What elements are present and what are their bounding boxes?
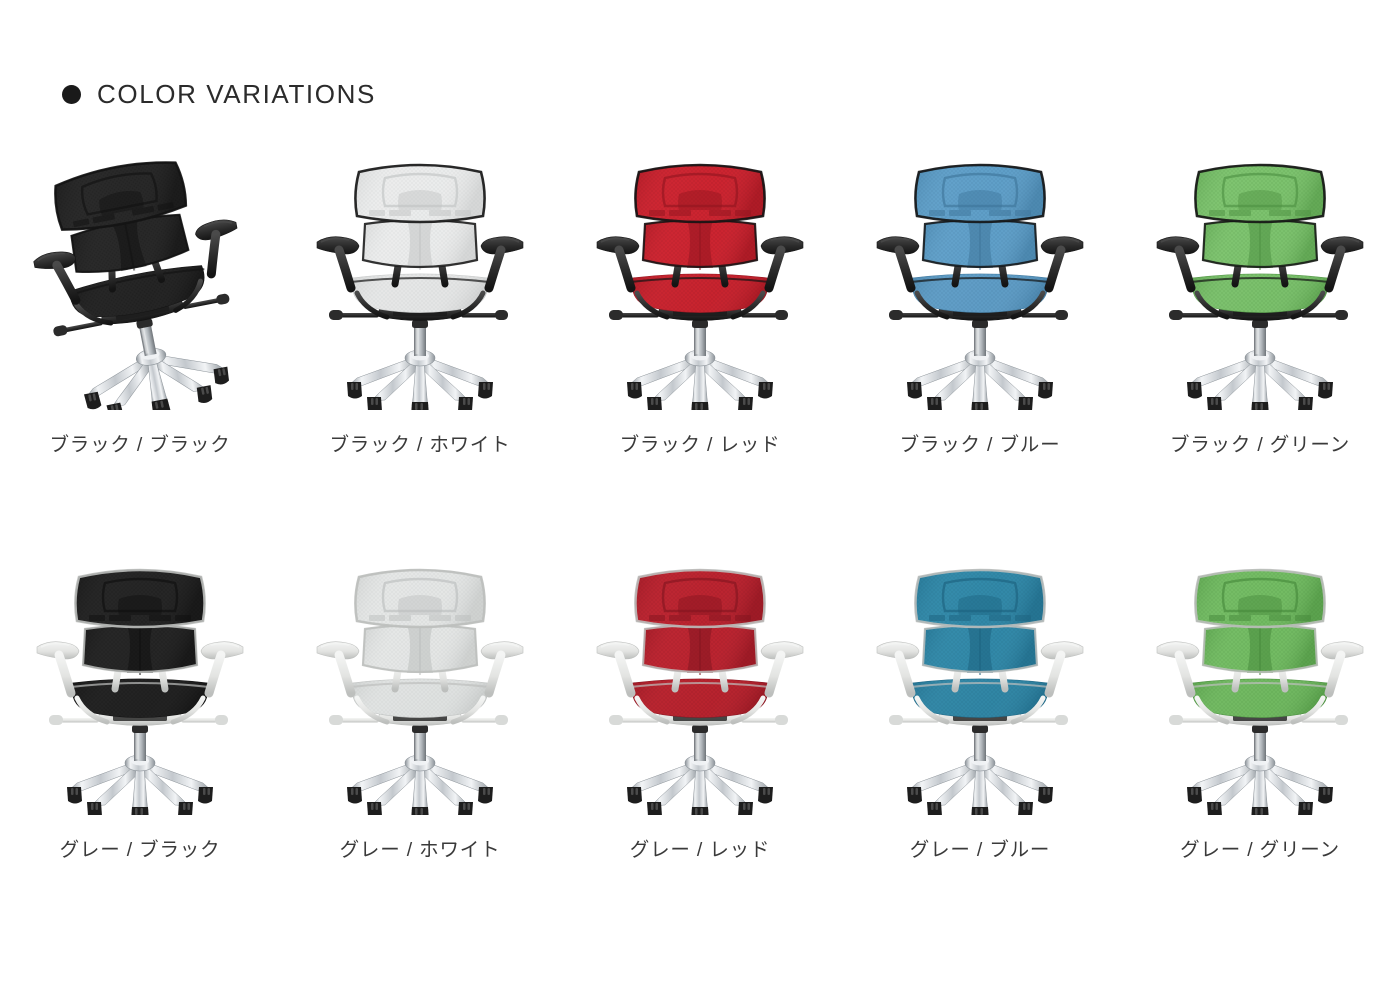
chair-seat <box>351 274 489 317</box>
chair-illustration <box>855 555 1105 815</box>
chair-image[interactable] <box>295 555 545 815</box>
chair-seat <box>1191 679 1329 722</box>
lumbar-back-rest <box>643 218 757 270</box>
chair-illustration <box>15 150 265 410</box>
upper-backrest <box>1195 570 1324 627</box>
variation-label: ブラック / レッド <box>620 428 781 457</box>
chair-seat <box>631 274 769 317</box>
chair-seat <box>911 679 1049 722</box>
chair-image[interactable] <box>1135 150 1385 410</box>
page-header: COLOR VARIATIONS <box>62 62 376 128</box>
upper-backrest <box>635 570 764 627</box>
chair-illustration <box>855 150 1105 410</box>
chair-image[interactable] <box>575 555 825 815</box>
lumbar-back-rest <box>1203 623 1317 675</box>
chair-image[interactable] <box>1135 555 1385 815</box>
chair-image[interactable] <box>575 150 825 410</box>
variation-label: グレー / ホワイト <box>340 833 501 862</box>
variation-label: ブラック / ブルー <box>900 428 1061 457</box>
lumbar-back-rest <box>363 623 477 675</box>
variation-item[interactable]: グレー / ホワイト <box>280 555 560 960</box>
chair-base <box>347 350 493 410</box>
lumbar-back-rest <box>643 623 757 675</box>
lumbar-back-rest <box>83 623 197 675</box>
upper-backrest <box>915 570 1044 627</box>
chair-image[interactable] <box>855 555 1105 815</box>
variation-item[interactable]: グレー / ブラック <box>0 555 280 960</box>
variation-row: ブラック / ブラック <box>0 150 1400 555</box>
chair-base <box>67 755 213 815</box>
chair-seat <box>71 679 209 722</box>
variation-row: グレー / ブラック <box>0 555 1400 960</box>
chair-illustration <box>1135 555 1385 815</box>
variation-item[interactable]: ブラック / グリーン <box>1120 150 1400 555</box>
variation-item[interactable]: ブラック / レッド <box>560 150 840 555</box>
variation-label: グレー / グリーン <box>1180 833 1340 862</box>
chair-seat <box>911 274 1049 317</box>
variation-label: ブラック / グリーン <box>1170 428 1350 457</box>
chair-base <box>347 755 493 815</box>
chair-base <box>1187 755 1333 815</box>
gas-cylinder <box>1252 320 1268 356</box>
upper-backrest <box>75 570 204 627</box>
gas-cylinder <box>692 320 708 356</box>
chair-seat <box>631 679 769 722</box>
chair-illustration <box>575 555 825 815</box>
gas-cylinder <box>412 725 428 761</box>
variation-label: グレー / レッド <box>630 833 770 862</box>
chair-base <box>627 755 773 815</box>
chair-base <box>907 350 1053 410</box>
gas-cylinder <box>412 320 428 356</box>
page-title: COLOR VARIATIONS <box>97 79 376 110</box>
gas-cylinder <box>972 320 988 356</box>
gas-cylinder <box>136 318 159 356</box>
chair-illustration <box>575 150 825 410</box>
lumbar-back-rest <box>923 218 1037 270</box>
lumbar-back-rest <box>923 623 1037 675</box>
chair-image[interactable] <box>855 150 1105 410</box>
chair-illustration <box>15 555 265 815</box>
chair-seat <box>1191 274 1329 317</box>
variation-item[interactable]: グレー / グリーン <box>1120 555 1400 960</box>
upper-backrest <box>355 165 484 222</box>
bullet-dot-icon <box>62 85 81 104</box>
upper-backrest <box>355 570 484 627</box>
lumbar-back-rest <box>363 218 477 270</box>
variation-label: グレー / ブルー <box>910 833 1050 862</box>
variation-item[interactable]: ブラック / ホワイト <box>280 150 560 555</box>
chair-base <box>1187 350 1333 410</box>
gas-cylinder <box>132 725 148 761</box>
gas-cylinder <box>692 725 708 761</box>
upper-backrest <box>1195 165 1324 222</box>
lumbar-back-rest <box>1203 218 1317 270</box>
chair-base <box>907 755 1053 815</box>
variation-item[interactable]: グレー / レッド <box>560 555 840 960</box>
color-variations-grid: ブラック / ブラック <box>0 150 1400 960</box>
variation-label: ブラック / ホワイト <box>329 428 510 457</box>
gas-cylinder <box>972 725 988 761</box>
chair-base <box>627 350 773 410</box>
chair-image[interactable] <box>15 150 265 410</box>
chair-base <box>78 335 234 410</box>
gas-cylinder <box>1252 725 1268 761</box>
variation-item[interactable]: ブラック / ブルー <box>840 150 1120 555</box>
upper-backrest <box>915 165 1044 222</box>
chair-seat <box>351 679 489 722</box>
chair-illustration <box>1135 150 1385 410</box>
chair-illustration <box>295 150 545 410</box>
chair-illustration <box>295 555 545 815</box>
variation-item[interactable]: ブラック / ブラック <box>0 150 280 555</box>
variation-label: ブラック / ブラック <box>49 428 230 457</box>
chair-image[interactable] <box>15 555 265 815</box>
variation-label: グレー / ブラック <box>60 833 221 862</box>
chair-image[interactable] <box>295 150 545 410</box>
upper-backrest <box>635 165 764 222</box>
variation-item[interactable]: グレー / ブルー <box>840 555 1120 960</box>
